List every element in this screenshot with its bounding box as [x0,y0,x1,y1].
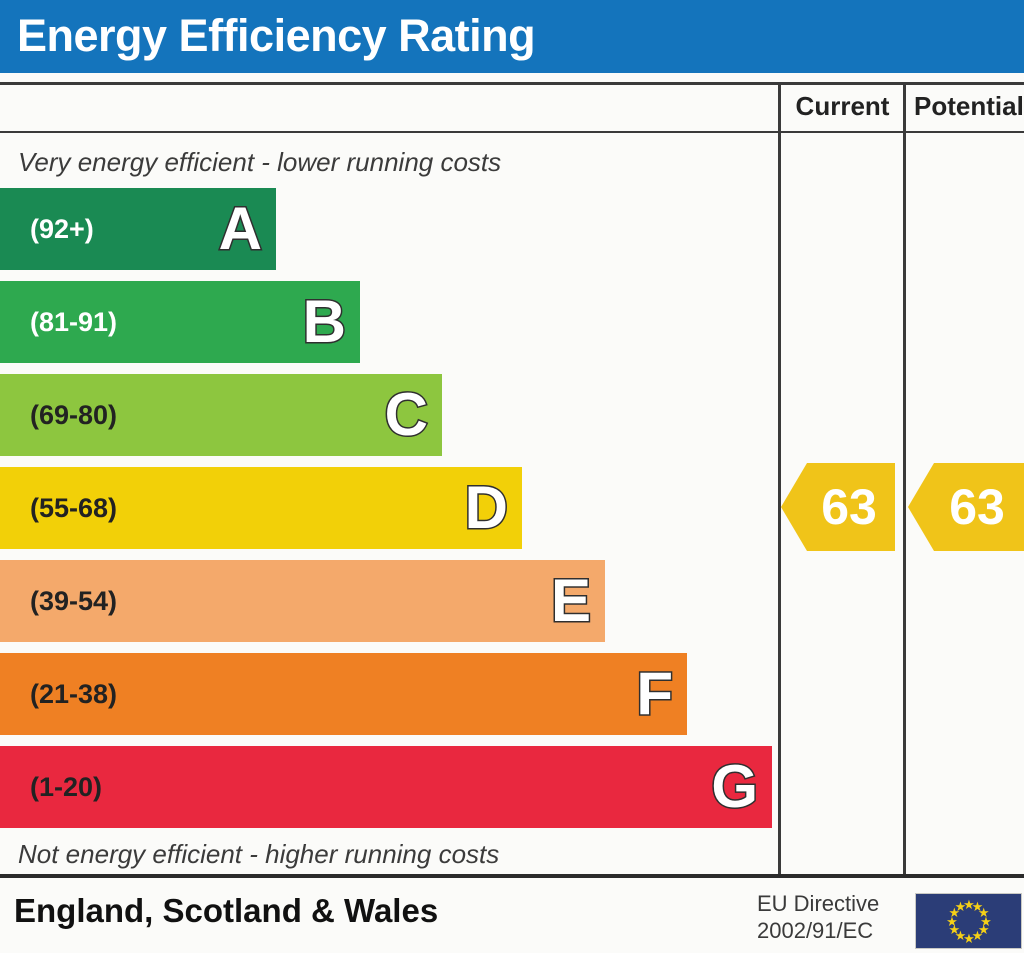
band-range-label: (81-91) [30,281,117,363]
potential-rating-badge-value: 63 [949,482,1005,532]
rating-band-d: (55-68)D [0,467,522,549]
band-letter-label: B [303,292,346,352]
band-range-label: (92+) [30,188,94,270]
band-range-label: (55-68) [30,467,117,549]
band-letter-label: F [636,664,673,724]
eu-flag-icon: ★★★★★★★★★★★★ [915,893,1022,949]
band-letter-label: G [711,757,758,817]
footer-directive-line1: EU Directive [757,890,879,917]
band-range-label: (69-80) [30,374,117,456]
caption-very-efficient: Very energy efficient - lower running co… [18,147,501,178]
rating-band-e: (39-54)E [0,560,605,642]
column-header-row: Current Potential [0,82,1024,133]
caption-not-efficient: Not energy efficient - higher running co… [18,839,499,870]
footer: England, Scotland & Wales EU Directive 2… [0,878,1024,953]
band-letter-label: A [219,199,262,259]
band-range-label: (39-54) [30,560,117,642]
rating-band-c: (69-80)C [0,374,442,456]
header-banner: Energy Efficiency Rating [0,0,1024,73]
footer-region-label: England, Scotland & Wales [14,892,438,930]
divider-current-potential [903,82,906,874]
divider-bands-current [778,82,781,874]
band-letter-label: C [385,385,428,445]
band-letter-label: D [465,478,508,538]
rating-band-a: (92+)A [0,188,276,270]
rating-band-b: (81-91)B [0,281,360,363]
band-range-label: (21-38) [30,653,117,735]
current-rating-badge-value: 63 [821,482,877,532]
rating-band-g: (1-20)G [0,746,772,828]
band-range-label: (1-20) [30,746,102,828]
rating-band-f: (21-38)F [0,653,687,735]
energy-efficiency-rating-chart: Energy Efficiency Rating Current Potenti… [0,0,1024,953]
page-title: Energy Efficiency Rating [17,6,535,66]
column-header-potential: Potential [907,82,1024,131]
eu-flag-star-icon: ★ [954,900,967,913]
footer-directive: EU Directive 2002/91/EC [757,890,879,944]
band-letter-label: E [551,571,591,631]
column-header-current: Current [781,82,904,131]
footer-directive-line2: 2002/91/EC [757,917,879,944]
